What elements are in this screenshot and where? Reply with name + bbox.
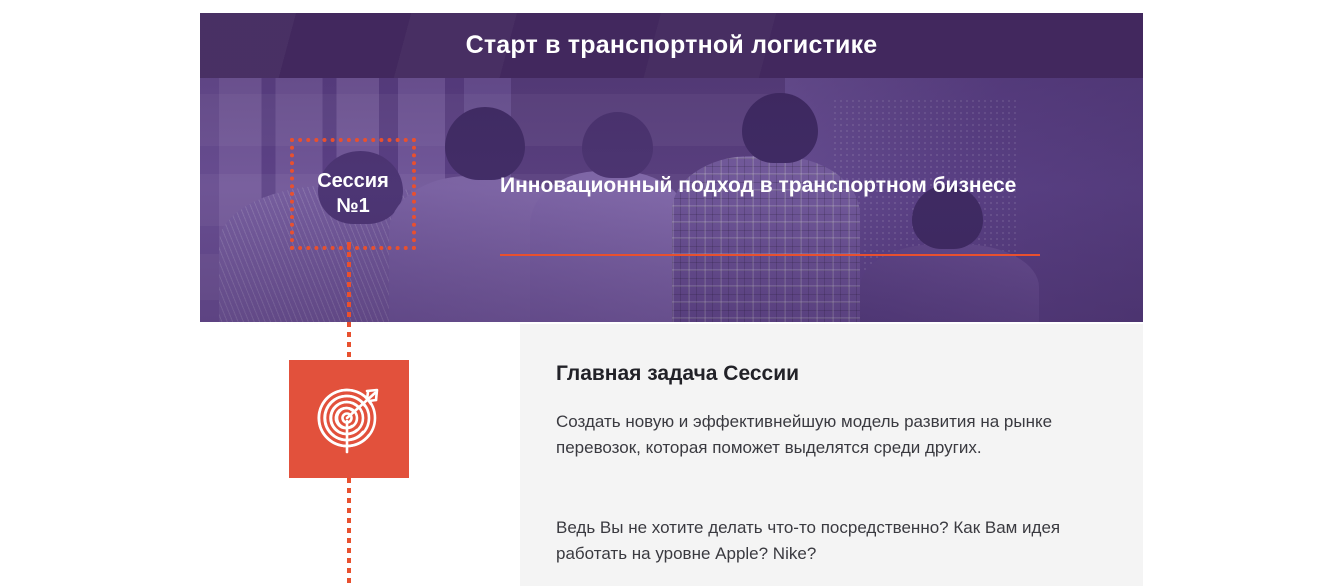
dotted-connector-upper: [347, 242, 351, 360]
content-paragraph-1: Создать новую и эффективнейшую модель ра…: [556, 409, 1096, 461]
content-heading: Главная задача Сессии: [556, 362, 1116, 386]
session-badge: Сессия №1: [290, 138, 416, 250]
header-bar: Старт в транспортной логистике: [200, 13, 1143, 78]
objective-icon-tile: [289, 360, 409, 478]
hero-headline: Инновационный подход в транспортном бизн…: [500, 172, 1030, 200]
content-paragraph-2: Ведь Вы не хотите делать что-то посредст…: [556, 515, 1096, 567]
target-arrow-icon: [311, 381, 387, 457]
slide-canvas: Старт в транспортной логистике: [0, 0, 1343, 586]
session-badge-line-2: №1: [336, 194, 369, 219]
hero-underline-rule: [500, 254, 1040, 256]
dotted-connector-lower: [347, 478, 351, 586]
session-badge-line-1: Сессия: [317, 169, 389, 194]
page-title: Старт в транспортной логистике: [200, 13, 1143, 78]
